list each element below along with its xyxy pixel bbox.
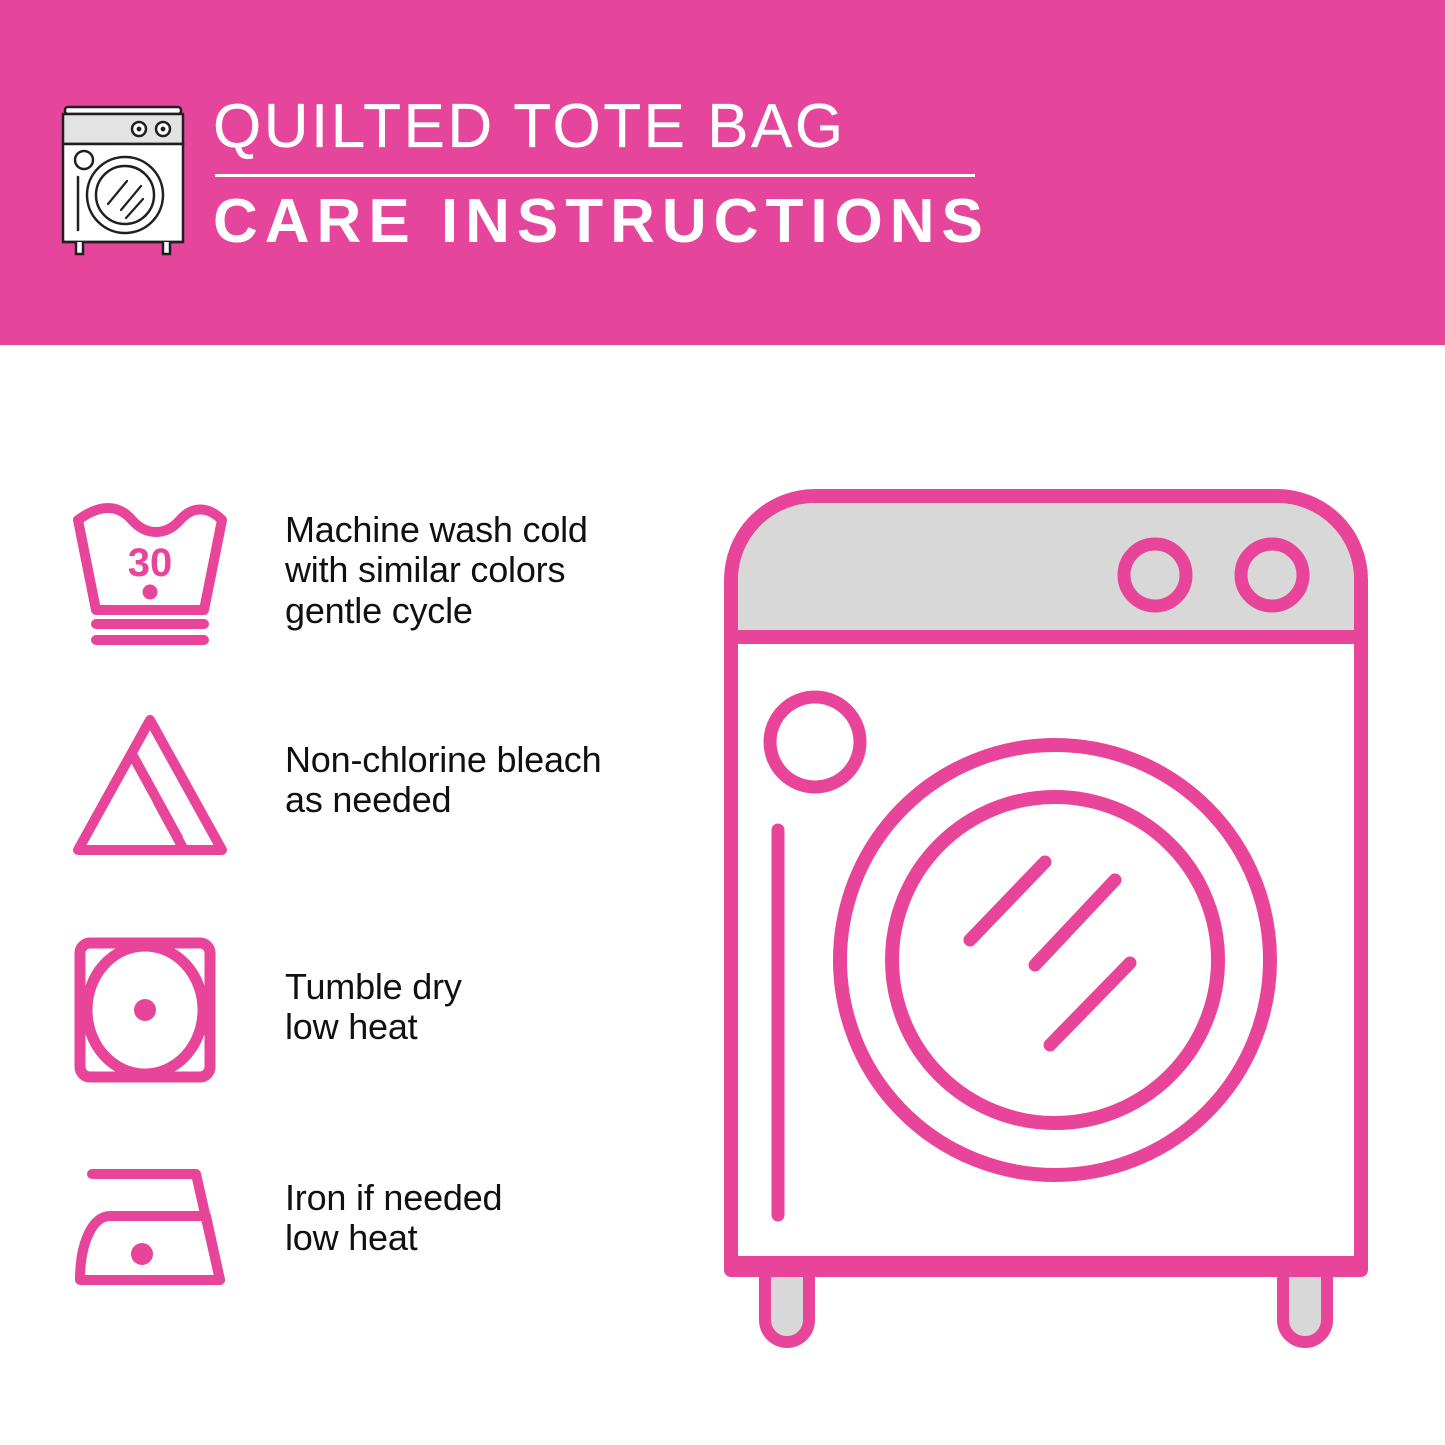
care-item-bleach-text: Non-chlorine bleach as needed [285,712,601,821]
care-item-machine-wash-text: Machine wash cold with similar colors ge… [285,498,588,631]
care-item-iron-text: Iron if needed low heat [285,1152,502,1259]
iron-low-heat-icon [70,1152,235,1302]
care-line: Machine wash cold [285,510,588,550]
header-banner: QUILTED TOTE BAG CARE INSTRUCTIONS [0,0,1445,345]
care-item-iron: Iron if needed low heat [70,1152,502,1302]
header-title-block: QUILTED TOTE BAG CARE INSTRUCTIONS [213,96,990,253]
care-item-bleach: Non-chlorine bleach as needed [70,712,601,862]
care-line: Non-chlorine bleach [285,740,601,780]
care-line: as needed [285,780,601,820]
wash-temperature-label: 30 [128,541,173,585]
care-line: Iron if needed [285,1178,502,1218]
washing-machine-icon [55,102,191,258]
wash-tub-30-gentle-icon: 30 [70,498,235,648]
care-item-machine-wash: 30 Machine wash cold with similar colors… [70,498,588,648]
care-line: gentle cycle [285,591,588,631]
page-subtitle: CARE INSTRUCTIONS [213,191,990,253]
care-item-tumble-dry: Tumble dry low heat [70,935,462,1085]
control-panel [738,503,1354,637]
title-divider [215,174,975,177]
tumble-dry-low-icon [70,935,235,1085]
care-item-tumble-dry-text: Tumble dry low heat [285,935,462,1048]
care-line: with similar colors [285,550,588,590]
care-line: low heat [285,1218,502,1258]
care-line: Tumble dry [285,967,462,1007]
page-title: QUILTED TOTE BAG [213,96,990,158]
care-line: low heat [285,1007,462,1047]
front-load-washing-machine-illustration [705,470,1405,1370]
care-instructions-infographic: QUILTED TOTE BAG CARE INSTRUCTIONS [0,0,1445,1445]
non-chlorine-bleach-triangle-icon [70,712,235,862]
header-content: QUILTED TOTE BAG CARE INSTRUCTIONS [55,96,990,258]
